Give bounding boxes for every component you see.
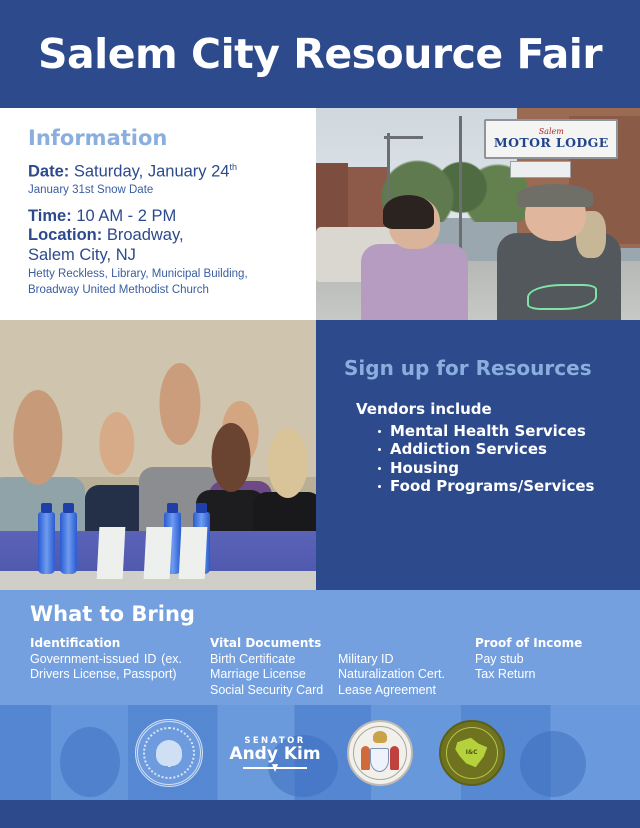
vital-documents-column: Vital Documents Birth Certificate Marria… bbox=[210, 636, 470, 652]
information-heading: Information bbox=[28, 126, 302, 150]
poster: Salem City Resource Fair Information Dat… bbox=[0, 0, 640, 828]
brochure-2 bbox=[144, 527, 173, 579]
proof-of-income-column: Proof of Income Pay stub Tax Return bbox=[475, 636, 635, 683]
horse-crest-icon bbox=[373, 731, 387, 743]
salem-county-seal-icon: I&C bbox=[439, 720, 505, 786]
vital-documents-title: Vital Documents bbox=[210, 636, 470, 650]
date-label: Date: bbox=[28, 163, 69, 181]
proof-of-income-title: Proof of Income bbox=[475, 636, 635, 650]
person-left bbox=[361, 197, 468, 320]
shirt-logo-icon bbox=[527, 284, 597, 311]
sign-main-text: MOTOR LODGE bbox=[494, 136, 609, 150]
what-to-bring-columns: Identification Government-issued ID (ex.… bbox=[0, 636, 640, 702]
vital-documents-col-1: Birth Certificate Marriage License Socia… bbox=[210, 652, 323, 698]
brochure-1 bbox=[97, 527, 126, 579]
vital-doc-item: Naturalization Cert. bbox=[338, 667, 445, 682]
resource-fair-tables-photo bbox=[0, 320, 316, 590]
list-item: Food Programs/Services bbox=[378, 477, 630, 495]
brochure-3 bbox=[179, 527, 208, 579]
attendee-1-head bbox=[13, 390, 62, 485]
person-right bbox=[497, 184, 620, 320]
poster-header: Salem City Resource Fair bbox=[0, 0, 640, 108]
salem-county-seal: I&C bbox=[439, 720, 505, 786]
senator-name: Andy Kim bbox=[229, 746, 320, 764]
location-line: Location: Broadway, bbox=[28, 226, 302, 245]
what-to-bring-section: What to Bring Identification Government-… bbox=[0, 590, 640, 705]
vital-documents-col-2: Military ID Naturalization Cert. Lease A… bbox=[338, 652, 445, 698]
person-left-hair bbox=[383, 195, 434, 229]
water-bottle-1 bbox=[38, 512, 55, 574]
street-conversation-photo: Salem MOTOR LODGE bbox=[316, 108, 640, 320]
person-right-cap bbox=[517, 184, 593, 207]
attendee-6-head bbox=[267, 428, 307, 498]
date-value: Saturday, January 24 bbox=[74, 163, 230, 181]
vital-doc-item: Birth Certificate bbox=[210, 652, 323, 667]
county-map-icon: I&C bbox=[455, 737, 489, 769]
water-bottle-2 bbox=[60, 512, 77, 574]
salem-city-seal-icon bbox=[135, 719, 203, 787]
resources-heading: Sign up for Resources bbox=[344, 356, 630, 380]
county-seal-initials: I&C bbox=[466, 749, 478, 756]
identification-title: Identification bbox=[30, 636, 210, 650]
footer-logo-band: SENATOR Andy Kim I&C bbox=[0, 705, 640, 800]
vital-doc-item: Marriage License bbox=[210, 667, 323, 682]
attendee-5-head bbox=[211, 423, 250, 493]
wordmark-rule-icon bbox=[243, 767, 307, 769]
seal-shield-icon bbox=[370, 748, 389, 772]
vendors-subheading: Vendors include bbox=[356, 400, 630, 418]
new-jersey-state-seal bbox=[347, 720, 413, 786]
date-line: Date: Saturday, January 24th bbox=[28, 162, 302, 182]
bottom-bar bbox=[0, 800, 640, 828]
salem-city-seal bbox=[135, 719, 203, 787]
new-jersey-state-seal-icon bbox=[347, 720, 413, 786]
andy-kim-wordmark: SENATOR Andy Kim bbox=[229, 736, 320, 768]
motor-lodge-sign: Salem MOTOR LODGE bbox=[484, 119, 618, 159]
proof-of-income-item: Tax Return bbox=[475, 667, 635, 682]
time-label: Time: bbox=[28, 207, 72, 225]
person-left-shirt bbox=[361, 244, 468, 320]
page-title: Salem City Resource Fair bbox=[38, 30, 602, 78]
vendors-list: Mental Health Services Addiction Service… bbox=[344, 422, 630, 495]
attendee-3-head bbox=[160, 363, 201, 445]
vital-doc-item: Military ID bbox=[338, 652, 445, 667]
identification-items: Government-issued ID (ex. Drivers Licens… bbox=[30, 652, 182, 683]
what-to-bring-heading: What to Bring bbox=[30, 602, 640, 626]
list-item: Addiction Services bbox=[378, 440, 630, 458]
seal-figure-left bbox=[361, 746, 370, 770]
vital-doc-item: Lease Agreement bbox=[338, 683, 445, 698]
resources-panel: Sign up for Resources Vendors include Me… bbox=[316, 320, 640, 590]
location-label: Location: bbox=[28, 226, 102, 244]
snow-date: January 31st Snow Date bbox=[28, 183, 302, 197]
attendee-2-head bbox=[99, 412, 134, 475]
time-line: Time: 10 AM - 2 PM bbox=[28, 207, 302, 226]
senator-andy-kim-logo: SENATOR Andy Kim bbox=[229, 736, 320, 768]
location-line-2: Salem City, NJ bbox=[28, 246, 302, 265]
list-item: Mental Health Services bbox=[378, 422, 630, 440]
venues-line-2: Broadway United Methodist Church bbox=[28, 283, 302, 297]
date-superscript: th bbox=[229, 162, 237, 172]
utility-crossarm bbox=[384, 136, 423, 139]
open-sign bbox=[510, 161, 570, 178]
tree-icon bbox=[156, 740, 182, 766]
location-value-1: Broadway, bbox=[107, 226, 184, 244]
list-item: Housing bbox=[378, 459, 630, 477]
attendee-6 bbox=[253, 428, 316, 531]
seal-figure-right bbox=[390, 746, 399, 770]
identification-column: Identification Government-issued ID (ex.… bbox=[30, 636, 210, 683]
information-panel: Information Date: Saturday, January 24th… bbox=[0, 108, 316, 320]
venues-line-1: Hetty Reckless, Library, Municipal Build… bbox=[28, 267, 302, 281]
vital-doc-item: Social Security Card bbox=[210, 683, 323, 698]
time-value: 10 AM - 2 PM bbox=[76, 207, 176, 225]
footer-logos: SENATOR Andy Kim I&C bbox=[0, 705, 640, 800]
proof-of-income-item: Pay stub bbox=[475, 652, 635, 667]
